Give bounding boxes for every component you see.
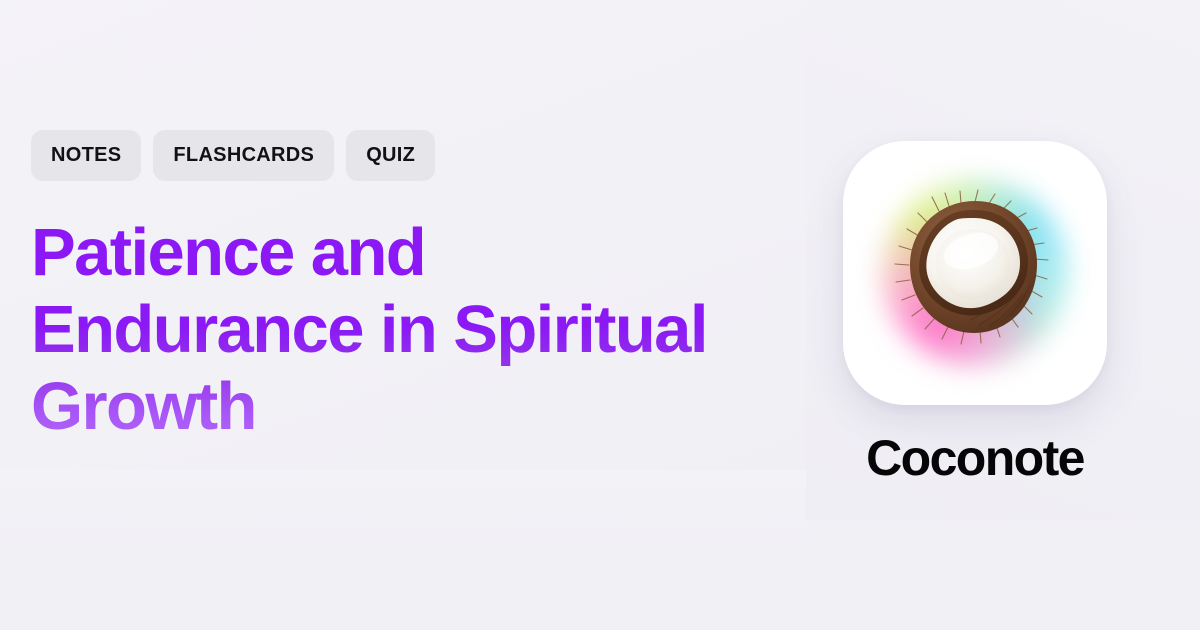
tab-quiz[interactable]: QUIZ xyxy=(346,130,435,181)
app-logo-tile xyxy=(843,141,1107,405)
background-panel-strip xyxy=(0,470,806,556)
tab-notes[interactable]: NOTES xyxy=(31,130,141,181)
tab-flashcards[interactable]: FLASHCARDS xyxy=(153,130,334,181)
content-column: NOTES FLASHCARDS QUIZ Patience and Endur… xyxy=(31,130,771,445)
coconut-icon xyxy=(887,185,1063,361)
brand-wordmark: Coconote xyxy=(866,433,1084,483)
share-card: NOTES FLASHCARDS QUIZ Patience and Endur… xyxy=(0,0,1200,630)
tab-chip-row: NOTES FLASHCARDS QUIZ xyxy=(31,130,771,181)
brand-block: Coconote xyxy=(843,141,1107,483)
page-title: Patience and Endurance in Spiritual Grow… xyxy=(31,214,731,445)
